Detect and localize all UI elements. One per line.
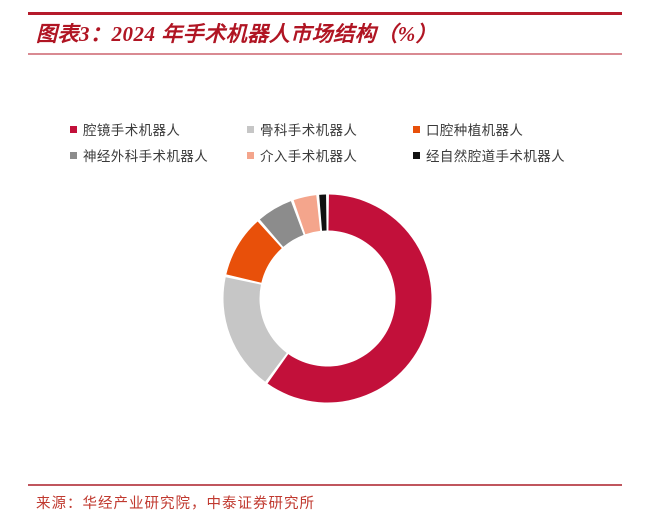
footer-rule <box>28 484 622 486</box>
legend-swatch-icon <box>413 126 420 133</box>
chart-legend: 腔镜手术机器人 骨科手术机器人 口腔种植机器人 神经外科手术机器人 介入手术机器… <box>70 116 610 168</box>
donut-chart <box>222 193 433 404</box>
donut-chart-svg <box>222 193 433 404</box>
legend-row: 腔镜手术机器人 骨科手术机器人 口腔种植机器人 <box>70 116 610 142</box>
legend-item-dental-implant[interactable]: 口腔种植机器人 <box>413 119 603 139</box>
legend-swatch-icon <box>247 126 254 133</box>
legend-swatch-icon <box>70 126 77 133</box>
legend-swatch-icon <box>70 152 77 159</box>
donut-slice[interactable] <box>224 277 287 382</box>
legend-item-label: 腔镜手术机器人 <box>83 119 180 139</box>
legend-item-interventional[interactable]: 介入手术机器人 <box>247 145 413 165</box>
legend-item-label: 介入手术机器人 <box>260 145 357 165</box>
header-top-rule <box>28 12 622 15</box>
header-bottom-rule <box>28 53 622 55</box>
page-title: 图表3：2024 年手术机器人市场结构（%） <box>36 18 437 48</box>
legend-swatch-icon <box>247 152 254 159</box>
legend-item-label: 口腔种植机器人 <box>426 119 523 139</box>
legend-item-label: 经自然腔道手术机器人 <box>426 145 565 165</box>
legend-item-label: 骨科手术机器人 <box>260 119 357 139</box>
legend-item-neurosurgical[interactable]: 神经外科手术机器人 <box>70 145 247 165</box>
legend-item-orthopedic[interactable]: 骨科手术机器人 <box>247 119 413 139</box>
source-note: 来源：华经产业研究院，中泰证券研究所 <box>36 492 315 513</box>
legend-item-natural-orifice[interactable]: 经自然腔道手术机器人 <box>413 145 603 165</box>
legend-row: 神经外科手术机器人 介入手术机器人 经自然腔道手术机器人 <box>70 142 610 168</box>
legend-item-endoscopic[interactable]: 腔镜手术机器人 <box>70 119 247 139</box>
legend-item-label: 神经外科手术机器人 <box>83 145 208 165</box>
legend-swatch-icon <box>413 152 420 159</box>
donut-slice[interactable] <box>319 195 326 231</box>
chart-header: 图表3：2024 年手术机器人市场结构（%） <box>28 12 622 56</box>
